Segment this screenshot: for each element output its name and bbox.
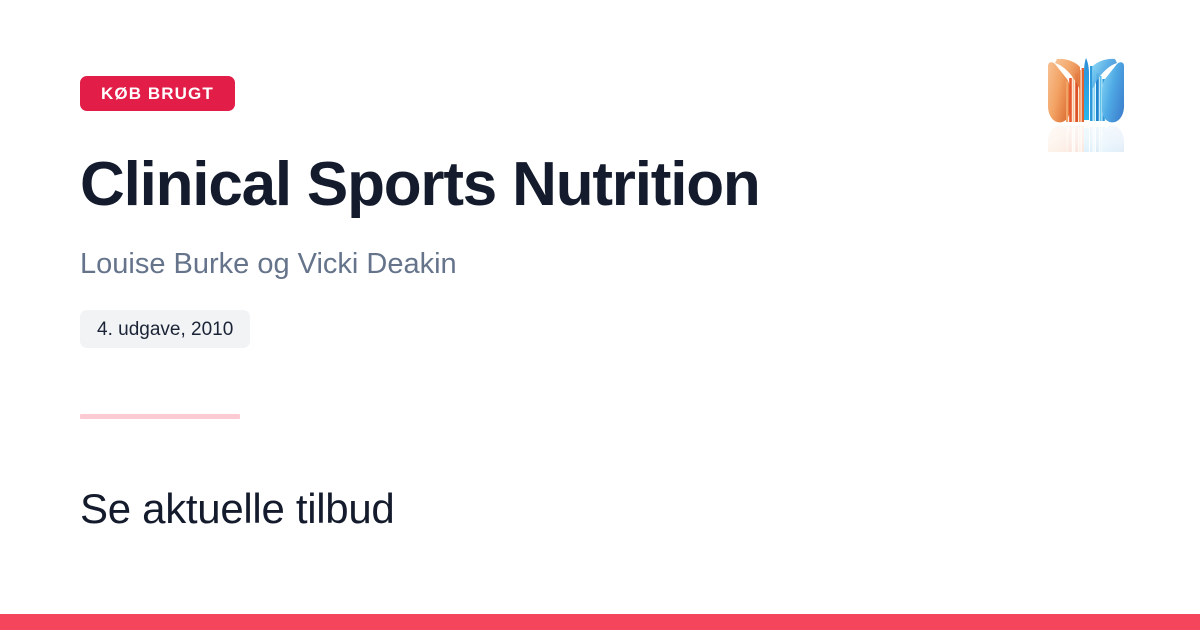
edition-chip: 4. udgave, 2010	[80, 310, 250, 348]
bottom-accent-bar	[0, 614, 1200, 630]
book-authors: Louise Burke og Vicki Deakin	[80, 246, 457, 284]
page-title: Clinical Sports Nutrition	[80, 152, 760, 219]
cta-label[interactable]: Se aktuelle tilbud	[80, 484, 394, 534]
status-badge: KØB BRUGT	[80, 76, 235, 111]
butterfly-wings-logo	[1036, 52, 1136, 152]
share-card: KØB BRUGT	[0, 0, 1200, 630]
divider	[80, 414, 240, 419]
